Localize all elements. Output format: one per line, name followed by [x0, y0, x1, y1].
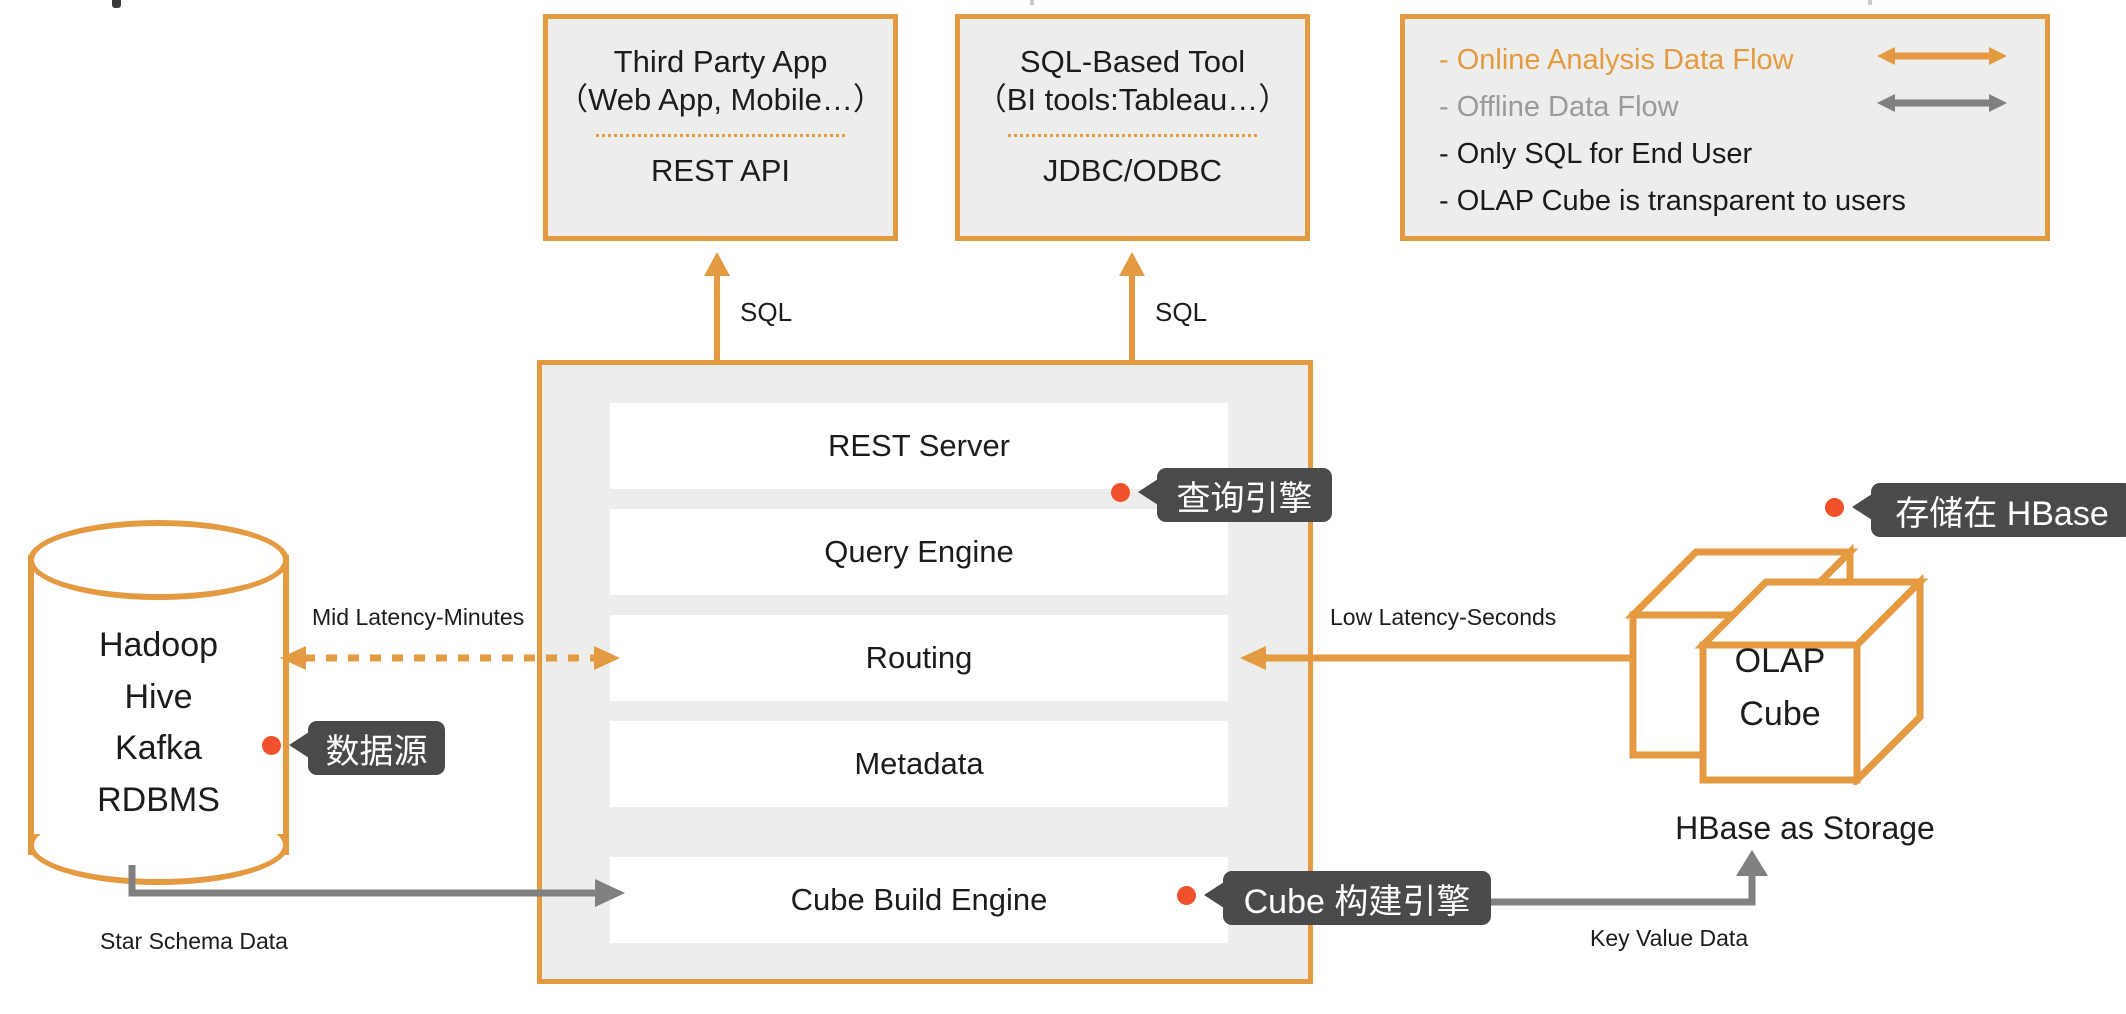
kylin-row-cube-build-engine[interactable]: Cube Build Engine [610, 857, 1228, 943]
cube-build-engine-tooltip-tail [1204, 882, 1224, 908]
legend-label-olap-transparent: - OLAP Cube is transparent to users [1439, 185, 1906, 218]
low-latency-arrow [1240, 640, 1640, 676]
datasource-label-kafka: Kafka [28, 723, 289, 775]
datasource-tooltip[interactable]: 数据源 [308, 721, 445, 775]
legend-item-olap-transparent: - OLAP Cube is transparent to users [1439, 178, 2045, 225]
kylin-row-label: Routing [866, 640, 973, 676]
star-schema-arrow [125, 865, 625, 915]
legend-label-online-flow: - Online Analysis Data Flow [1439, 44, 1794, 77]
kylin-row-rest-server[interactable]: REST Server [610, 403, 1228, 489]
kylin-row-label: REST Server [828, 428, 1010, 464]
cube-build-engine-tooltip-dot [1177, 886, 1196, 905]
kylin-row-label: Metadata [854, 746, 983, 782]
sql-label-right: SQL [1155, 297, 1207, 328]
olap-cube-label-line2: Cube [1700, 688, 1860, 741]
key-value-label: Key Value Data [1590, 925, 1748, 952]
legend-label-offline-flow: - Offline Data Flow [1439, 91, 1679, 124]
mid-latency-arrow [280, 640, 620, 676]
clipped-text-fragment-mid [1030, 0, 1034, 5]
kylin-row-routing[interactable]: Routing [610, 615, 1228, 701]
legend-item-online-flow: - Online Analysis Data Flow [1439, 37, 2045, 84]
hbase-storage-tooltip-tail [1852, 494, 1872, 520]
datasource-tooltip-tail [289, 732, 309, 758]
query-engine-tooltip[interactable]: 查询引擎 [1157, 468, 1332, 522]
legend-item-only-sql: - Only SQL for End User [1439, 131, 2045, 178]
third-party-app-title-line1: Third Party App [557, 43, 884, 81]
key-value-arrow [1480, 850, 1780, 910]
sql-based-tool-title-line1: SQL-Based Tool [976, 43, 1290, 81]
third-party-app-box[interactable]: Third Party App （Web App, Mobile…） REST … [543, 14, 898, 241]
sql-based-tool-title: SQL-Based Tool （BI tools:Tableau…） [976, 19, 1290, 120]
third-party-app-title-line2: （Web App, Mobile…） [557, 81, 884, 119]
legend-arrow-offline-icon [1877, 92, 2007, 114]
datasource-label-hive: Hive [28, 672, 289, 724]
sql-label-left: SQL [740, 297, 792, 328]
kylin-row-label: Query Engine [824, 534, 1014, 570]
third-party-app-protocol: REST API [651, 137, 790, 189]
query-engine-tooltip-dot [1111, 483, 1130, 502]
query-engine-tooltip-tail [1138, 479, 1158, 505]
sql-based-tool-title-line2: （BI tools:Tableau…） [976, 81, 1290, 119]
datasource-labels: Hadoop Hive Kafka RDBMS [28, 620, 289, 827]
legend-arrow-online-icon [1877, 45, 2007, 67]
hbase-storage-tooltip-dot [1825, 498, 1844, 517]
sql-based-tool-protocol: JDBC/ODBC [1043, 137, 1222, 189]
cube-build-engine-tooltip[interactable]: Cube 构建引擎 [1223, 871, 1491, 925]
mid-latency-label: Mid Latency-Minutes [312, 604, 524, 631]
star-schema-label: Star Schema Data [100, 928, 288, 955]
datasource-label-rdbms: RDBMS [28, 775, 289, 827]
olap-cube-label-line1: OLAP [1700, 635, 1860, 688]
kylin-row-metadata[interactable]: Metadata [610, 721, 1228, 807]
olap-cube-label: OLAP Cube [1700, 635, 1860, 740]
low-latency-label: Low Latency-Seconds [1330, 604, 1556, 631]
hbase-storage-tooltip[interactable]: 存储在 HBase [1871, 483, 2126, 537]
hbase-storage-caption: HBase as Storage [1640, 810, 1970, 847]
kylin-row-label: Cube Build Engine [791, 882, 1048, 918]
datasource-cylinder-top [28, 520, 289, 600]
datasource-tooltip-dot [262, 736, 281, 755]
clipped-text-fragment-right [1868, 0, 1872, 5]
legend-item-offline-flow: - Offline Data Flow [1439, 84, 2045, 131]
datasource-label-hadoop: Hadoop [28, 620, 289, 672]
third-party-app-title: Third Party App （Web App, Mobile…） [557, 19, 884, 120]
legend-box: - Online Analysis Data Flow - Offline Da… [1400, 14, 2050, 241]
kylin-row-query-engine[interactable]: Query Engine [610, 509, 1228, 595]
sql-based-tool-box[interactable]: SQL-Based Tool （BI tools:Tableau…） JDBC/… [955, 14, 1310, 241]
legend-label-only-sql: - Only SQL for End User [1439, 138, 1752, 171]
clipped-text-fragment-left [112, 0, 121, 8]
